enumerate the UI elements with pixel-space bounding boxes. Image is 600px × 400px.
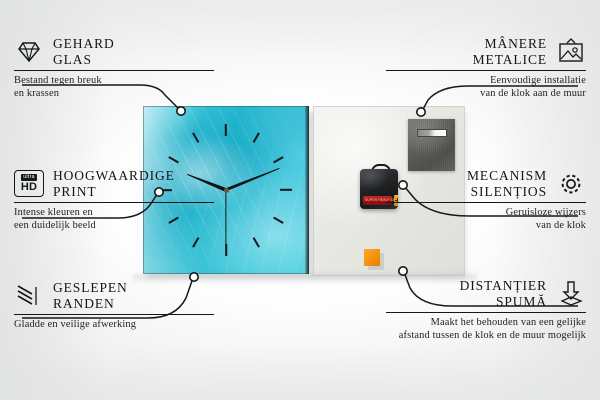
- callout-title: DISTANȚIER SPUMĂ: [460, 278, 547, 309]
- callout-header: MÂNERE METALICE: [386, 36, 586, 67]
- callout-header: GEHARD GLAS: [14, 36, 214, 67]
- diamond-icon: [14, 37, 44, 67]
- callout-header: MECANISM SILENȚIOS: [386, 168, 586, 199]
- callout-header: DISTANȚIER SPUMĂ: [386, 278, 586, 309]
- hd-badge: ultra HD: [14, 170, 44, 197]
- callout-subtitle-line2: een duidelijk beeld: [14, 220, 214, 233]
- callout-silent-mechanism: MECANISM SILENȚIOS Geruisloze wijzers va…: [386, 168, 586, 233]
- callout-subtitle-line2: van de klok: [386, 220, 586, 233]
- callout-high-quality-print: ultra HD HOOGWAARDIGE PRINT Intense kleu…: [14, 168, 214, 233]
- metal-hanger-plate: [408, 119, 455, 171]
- callout-divider: [14, 70, 214, 71]
- callout-subtitle-line1: Bestand tegen breuk: [14, 75, 214, 88]
- callout-title: HOOGWAARDIGE PRINT: [53, 168, 175, 199]
- callout-divider: [386, 70, 586, 71]
- glass-side-edge: [305, 106, 309, 274]
- ultra-hd-badge-icon: ultra HD: [14, 169, 44, 199]
- brushed-metal-grain: [408, 119, 455, 171]
- callout-divider: [14, 314, 214, 315]
- orange-foam-spacer: [364, 249, 380, 266]
- callout-subtitle-line1: Eenvoudige installatie: [386, 75, 586, 88]
- callout-title: GESLEPEN RANDEN: [53, 280, 128, 311]
- hd-badge-ultra-label: ultra: [21, 174, 37, 180]
- callout-divider: [14, 202, 214, 203]
- arrow-down-onto-pad-icon: [556, 279, 586, 309]
- infographic-canvas: SUPER HEAVY DUTY: [0, 0, 600, 400]
- callout-title: GEHARD GLAS: [53, 36, 115, 67]
- polished-edge-lines-icon: [14, 281, 44, 311]
- callout-subtitle-line2: en krassen: [14, 88, 214, 101]
- callout-subtitle-line1: Geruisloze wijzers: [386, 207, 586, 220]
- callout-title: MECANISM SILENȚIOS: [467, 168, 547, 199]
- hd-badge-main-label: HD: [21, 182, 37, 193]
- gear-icon: [556, 169, 586, 199]
- callout-header: ultra HD HOOGWAARDIGE PRINT: [14, 168, 214, 199]
- callout-subtitle-line1: Intense kleuren en: [14, 207, 214, 220]
- callout-subtitle-line2: afstand tussen de klok en de muur mogeli…: [386, 330, 586, 343]
- callout-subtitle-line1: Gladde en veilige afwerking: [14, 319, 214, 332]
- callout-divider: [386, 312, 586, 313]
- callout-tempered-glass: GEHARD GLAS Bestand tegen breuk en krass…: [14, 36, 214, 101]
- callout-subtitle-line2: van de klok aan de muur: [386, 88, 586, 101]
- callout-polished-edges: GESLEPEN RANDEN Gladde en veilige afwerk…: [14, 280, 214, 332]
- callout-subtitle-line1: Maakt het behouden van een gelijke: [386, 317, 586, 330]
- callout-foam-spacer: DISTANȚIER SPUMĂ Maakt het behouden van …: [386, 278, 586, 343]
- callout-metal-hooks: MÂNERE METALICE Eenvoudige installatie v…: [386, 36, 586, 101]
- callout-header: GESLEPEN RANDEN: [14, 280, 214, 311]
- hanging-picture-frame-icon: [556, 37, 586, 67]
- callout-title: MÂNERE METALICE: [473, 36, 547, 67]
- hanger-slot: [417, 129, 447, 137]
- callout-divider: [386, 202, 586, 203]
